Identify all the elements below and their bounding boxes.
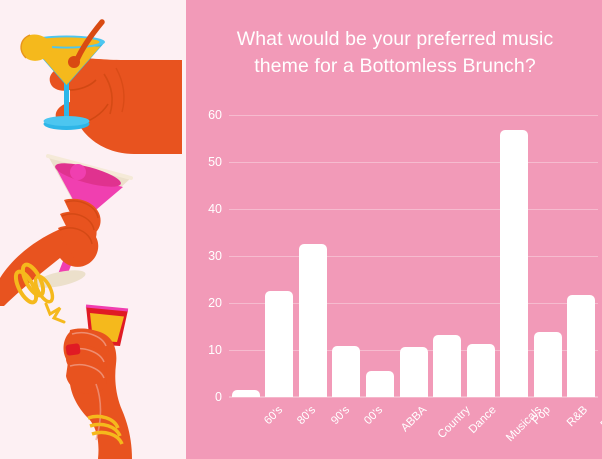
bar-musicals[interactable] [467,344,495,397]
x-tick-label-abba: ABBA [399,404,429,434]
y-tick-label-30: 30 [186,250,222,263]
y-tick-label-60: 60 [186,109,222,122]
bar-dance[interactable] [433,335,461,398]
x-tick-label-rb: R&B [565,404,590,429]
bar-rock[interactable] [567,295,595,397]
y-tick-label-20: 20 [186,297,222,310]
x-tick-label-00s: 00's [362,404,385,427]
x-tick-label-90s: 90's [329,404,352,427]
bar-abba[interactable] [366,371,394,397]
y-tick-label-10: 10 [186,344,222,357]
y-tick-label-40: 40 [186,203,222,216]
poll-infographic: What would be your preferred music theme… [0,0,602,459]
x-tick-label-80s: 80's [295,404,318,427]
bar-rb[interactable] [534,332,562,397]
bar-00s[interactable] [332,346,360,397]
bar-90s[interactable] [299,244,327,397]
x-tick-label-60s: 60's [262,404,285,427]
cocktail-illustrations-panel [0,0,186,459]
bar-country[interactable] [400,347,428,397]
bar-60s[interactable] [232,390,260,397]
bar-pop[interactable] [500,130,528,397]
margarita-glass-in-hand-illustration [4,4,182,156]
x-tick-label-country: Country [435,404,472,441]
bars-layer [229,115,598,397]
chart-panel: What would be your preferred music theme… [186,0,602,459]
martini-glass-in-hand-illustration [0,148,180,308]
plot-area: 0102030405060 60's80's90's00'sABBACountr… [186,0,602,459]
y-tick-label-0: 0 [186,391,222,404]
x-tick-label-dance: Dance [467,404,499,436]
shot-glass-in-hand-illustration [40,300,185,459]
y-tick-label-50: 50 [186,156,222,169]
bar-80s[interactable] [265,291,293,397]
